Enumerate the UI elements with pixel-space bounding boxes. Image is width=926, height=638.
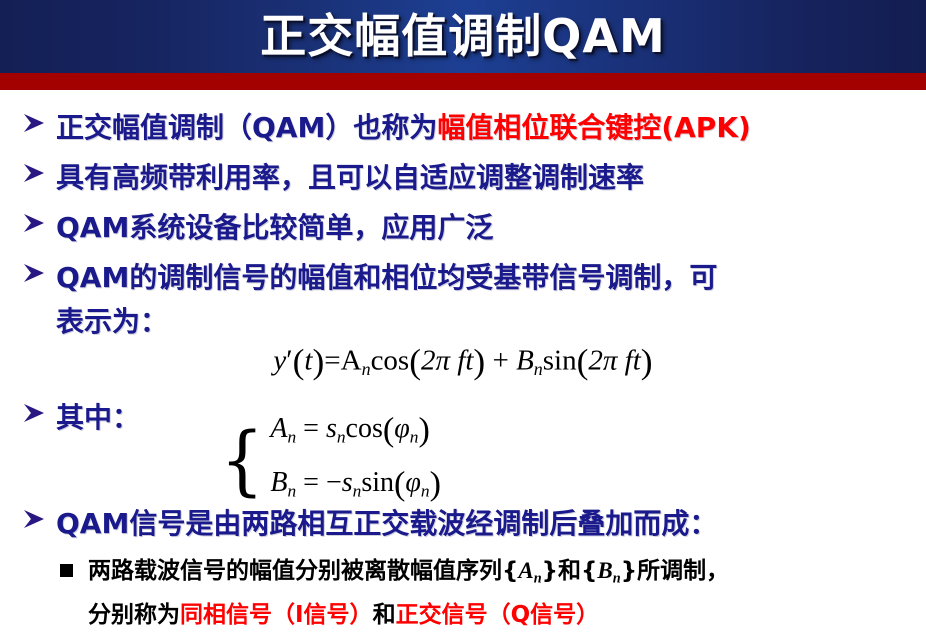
formula-paren-open-2: ( (409, 341, 421, 381)
system-lines: An = sncos(φn) Bn = −snsin(φn) (270, 406, 441, 513)
sys2-arg: φ (405, 467, 421, 498)
left-brace-icon: { (220, 422, 264, 498)
sub-bullet-text: 两路载波信号的幅值分别被离散幅值序列{An}和{Bn}所调制， 分别称为同相信号… (88, 552, 926, 634)
formula-inner-2: 2π ft (588, 344, 640, 376)
sys1-lhs-sub: n (287, 428, 296, 447)
sub-line1: 两路载波信号的幅值分别被离散幅值序列{An}和{Bn}所调制， (88, 558, 729, 584)
bullet-item-1: 正交幅值调制（QAM）也称为幅值相位联合键控(APK) (0, 106, 926, 150)
square-bullet-icon (60, 564, 88, 577)
arrow-bullet-icon (22, 396, 56, 423)
sub-line2-red1: 同相信号（I信号） (180, 602, 373, 628)
formula-plus: + (492, 344, 508, 376)
bullet-item-6: QAM信号是由两路相互正交载波经调制后叠加而成： (0, 502, 926, 546)
bullet-item-2: 具有高频带利用率，且可以自适应调整调制速率 (0, 156, 926, 200)
arrow-bullet-icon (22, 256, 56, 283)
bullet-text-4: QAM的调制信号的幅值和相位均受基带信号调制，可 表示为： (56, 256, 926, 344)
sys1-lhs: A (270, 413, 287, 444)
title-banner: 正交幅值调制QAM (0, 0, 926, 73)
sys2-arg-sub: n (421, 481, 430, 500)
sys1-equals: = (303, 413, 319, 444)
formula-inner-1: 2π ft (421, 344, 473, 376)
bullet-text-2: 具有高频带利用率，且可以自适应调整调制速率 (56, 156, 926, 200)
sys2-equals: = (303, 467, 319, 498)
formula-paren-close-1: ) (312, 341, 324, 381)
sys2-lhs-sub: n (287, 481, 296, 500)
sys2-fn: sin (361, 467, 394, 498)
sub-line1-setB-open: { (581, 558, 597, 584)
formula-A-sub: n (362, 359, 371, 379)
bullet-text-5: 其中： (56, 396, 926, 440)
formula-paren-close-2: ) (473, 341, 485, 381)
bullet-item-5: 其中： (0, 396, 926, 440)
sys2-minus: − (326, 467, 342, 498)
sys2-rhs-s: s (342, 467, 353, 498)
sub-line2: 分别称为同相信号（I信号）和正交信号（Q信号） (88, 602, 599, 628)
bullet-item-4: QAM的调制信号的幅值和相位均受基带信号调制，可 表示为： (0, 256, 926, 344)
slide-content: 正交幅值调制（QAM）也称为幅值相位联合键控(APK) 具有高频带利用率，且可以… (0, 90, 926, 638)
sub-line2-pre: 分别称为 (88, 602, 180, 628)
formula-system-equations: { An = sncos(φn) Bn = −snsin(φn) (218, 406, 441, 513)
sys1-paren-open: ( (383, 411, 394, 448)
system-line-1: An = sncos(φn) (270, 406, 441, 460)
bullet-1-segment-blue: 正交幅值调制（QAM）也称为 (56, 111, 437, 144)
sys2-paren-open: ( (394, 465, 405, 502)
arrow-bullet-icon (22, 502, 56, 529)
bullet-1-segment-red: 幅值相位联合键控(APK) (437, 111, 750, 144)
bullet-text-1: 正交幅值调制（QAM）也称为幅值相位联合键控(APK) (56, 106, 926, 150)
sub-line1-setA-var: An (518, 558, 541, 583)
arrow-bullet-icon (22, 156, 56, 183)
bullet-text-3: QAM系统设备比较简单，应用广泛 (56, 206, 926, 250)
sub-bullet-block: 两路载波信号的幅值分别被离散幅值序列{An}和{Bn}所调制， 分别称为同相信号… (0, 552, 926, 634)
sub-line2-red2: 正交信号（Q信号） (396, 602, 600, 628)
sub-line1-mid: 和 (558, 558, 581, 584)
sub-line1-setB-close: } (621, 558, 637, 584)
formula-B: B (516, 344, 534, 376)
formula-lhs-y: y (273, 344, 286, 376)
formula-main-equation: y′(t)=Ancos(2π ft) + Bnsin(2π ft) (0, 340, 926, 382)
sub-bullet-item-1: 两路载波信号的幅值分别被离散幅值序列{An}和{Bn}所调制， 分别称为同相信号… (0, 552, 926, 634)
formula-A: A (341, 344, 362, 376)
bullet-text-6: QAM信号是由两路相互正交载波经调制后叠加而成： (56, 502, 926, 546)
sub-line1-pre: 两路载波信号的幅值分别被离散幅值序列 (88, 558, 502, 584)
formula-B-sub: n (534, 359, 543, 379)
formula-paren-open-3: ( (577, 341, 589, 381)
arrow-bullet-icon (22, 206, 56, 233)
sub-line1-post: 所调制， (637, 558, 729, 584)
sys1-rhs-s: s (326, 413, 337, 444)
formula-paren-close-3: ) (641, 341, 653, 381)
sys1-paren-close: ) (418, 411, 429, 448)
formula-equals: = (324, 344, 340, 376)
slide-title: 正交幅值调制QAM (0, 4, 926, 68)
title-underline-bar (0, 73, 926, 90)
formula-paren-open-1: ( (293, 341, 305, 381)
sub-line1-setA-close: } (542, 558, 558, 584)
sys1-fn: cos (346, 413, 383, 444)
bullet-item-3: QAM系统设备比较简单，应用广泛 (0, 206, 926, 250)
sys2-paren-close: ) (430, 465, 441, 502)
formula-sin: sin (543, 344, 577, 376)
formula-cos: cos (371, 344, 410, 376)
sub-line1-setA-open: { (502, 558, 518, 584)
arrow-bullet-icon (22, 106, 56, 133)
sub-line1-setB-var: Bn (597, 558, 620, 583)
sys2-lhs: B (270, 467, 287, 498)
sys1-rhs-sub: n (337, 428, 346, 447)
sub-line2-mid: 和 (373, 602, 396, 628)
sys1-arg: φ (394, 413, 410, 444)
